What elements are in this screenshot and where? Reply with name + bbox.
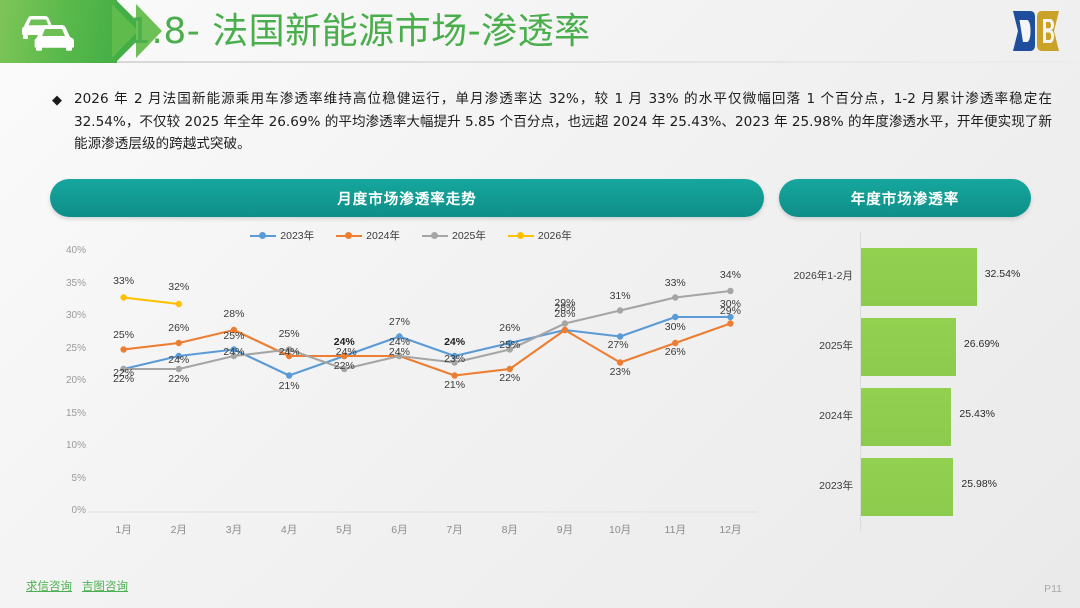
x-tick-label: 2月 bbox=[156, 522, 202, 537]
data-point-marker bbox=[176, 366, 182, 372]
data-label: 23% bbox=[600, 366, 640, 378]
data-label: 24% bbox=[379, 346, 419, 358]
data-point-marker bbox=[562, 320, 568, 326]
y-tick-label: 25% bbox=[50, 343, 86, 354]
footer-link[interactable]: 吉图咨询 bbox=[82, 578, 128, 594]
bar-value-label: 26.69% bbox=[964, 338, 1000, 350]
x-tick-label: 7月 bbox=[432, 522, 478, 537]
header-green-band bbox=[0, 0, 117, 63]
data-label: 24% bbox=[269, 346, 309, 358]
legend-label: 2025年 bbox=[452, 228, 486, 243]
legend-label: 2023年 bbox=[280, 228, 314, 243]
data-label: 33% bbox=[655, 277, 695, 289]
left-panel-title: 月度市场渗透率走势 bbox=[50, 179, 764, 217]
data-label: 30% bbox=[655, 321, 695, 333]
data-label: 24% bbox=[326, 346, 366, 358]
bar-row: 2025年26.69% bbox=[779, 318, 1037, 376]
data-label: 22% bbox=[490, 372, 530, 384]
data-point-marker bbox=[727, 320, 733, 326]
bar-fill[interactable] bbox=[861, 458, 953, 516]
header-divider bbox=[117, 61, 1080, 63]
x-tick-label: 1月 bbox=[101, 522, 147, 537]
data-label: 34% bbox=[710, 269, 750, 281]
data-point-marker bbox=[727, 288, 733, 294]
y-tick-label: 30% bbox=[50, 310, 86, 321]
annual-penetration-bar-chart: 2026年1-2月32.54%2025年26.69%2024年25.43%202… bbox=[779, 240, 1037, 550]
monthly-penetration-line-chart: 2023年2024年2025年2026年 0%5%10%15%20%25%30%… bbox=[50, 222, 772, 557]
bar-category-label: 2025年 bbox=[779, 338, 853, 353]
x-tick-label: 3月 bbox=[211, 522, 257, 537]
data-point-marker bbox=[176, 301, 182, 307]
data-label: 25% bbox=[104, 329, 144, 341]
data-point-marker bbox=[176, 340, 182, 346]
data-point-marker bbox=[120, 294, 126, 300]
bar-category-label: 2026年1-2月 bbox=[779, 268, 853, 283]
data-label: 27% bbox=[598, 339, 638, 351]
legend-label: 2024年 bbox=[366, 228, 400, 243]
x-tick-label: 9月 bbox=[542, 522, 588, 537]
x-tick-label: 6月 bbox=[376, 522, 422, 537]
data-label: 24% bbox=[435, 336, 475, 348]
bar-fill[interactable] bbox=[861, 248, 977, 306]
y-tick-label: 20% bbox=[50, 375, 86, 386]
data-label: 21% bbox=[269, 380, 309, 392]
chart-legend: 2023年2024年2025年2026年 bbox=[50, 228, 772, 243]
legend-swatch-icon bbox=[250, 231, 276, 241]
page-number: P11 bbox=[1044, 583, 1062, 595]
data-label: 24% bbox=[159, 354, 199, 366]
footer-links: 求信咨询吉图咨询 bbox=[26, 578, 128, 594]
bar-value-label: 25.43% bbox=[959, 408, 995, 420]
legend-label: 2026年 bbox=[538, 228, 572, 243]
company-logo-icon bbox=[1010, 8, 1062, 54]
data-point-marker bbox=[672, 294, 678, 300]
bar-fill[interactable] bbox=[861, 318, 956, 376]
bar-row: 2023年25.98% bbox=[779, 458, 1037, 516]
data-label: 31% bbox=[600, 290, 640, 302]
data-label: 22% bbox=[324, 360, 364, 372]
legend-swatch-icon bbox=[508, 231, 534, 241]
y-tick-label: 40% bbox=[50, 245, 86, 256]
data-point-marker bbox=[286, 372, 292, 378]
bar-category-label: 2024年 bbox=[779, 408, 853, 423]
data-label: 26% bbox=[490, 322, 530, 334]
bar-value-label: 32.54% bbox=[985, 268, 1021, 280]
data-label: 21% bbox=[435, 379, 475, 391]
data-label: 29% bbox=[710, 305, 750, 317]
right-panel-title: 年度市场渗透率 bbox=[779, 179, 1031, 217]
x-tick-label: 5月 bbox=[321, 522, 367, 537]
x-tick-label: 8月 bbox=[487, 522, 533, 537]
data-label: 22% bbox=[104, 373, 144, 385]
bar-value-label: 25.98% bbox=[961, 478, 997, 490]
data-label: 22% bbox=[159, 373, 199, 385]
data-label: 33% bbox=[104, 275, 144, 287]
legend-item-2026年[interactable]: 2026年 bbox=[508, 228, 572, 243]
y-tick-label: 0% bbox=[50, 505, 86, 516]
bar-row: 2026年1-2月32.54% bbox=[779, 248, 1037, 306]
bar-fill[interactable] bbox=[861, 388, 951, 446]
data-label: 23% bbox=[435, 353, 475, 365]
data-label: 25% bbox=[490, 339, 530, 351]
summary-text: 2026 年 2 月法国新能源乘用车渗透率维持高位稳健运行，单月渗透率达 32%… bbox=[74, 88, 1052, 156]
data-point-marker bbox=[672, 314, 678, 320]
bar-category-label: 2023年 bbox=[779, 478, 853, 493]
footer-link[interactable]: 求信咨询 bbox=[26, 578, 72, 594]
y-tick-label: 5% bbox=[50, 473, 86, 484]
legend-item-2024年[interactable]: 2024年 bbox=[336, 228, 400, 243]
legend-item-2025年[interactable]: 2025年 bbox=[422, 228, 486, 243]
bullet-marker: ◆ bbox=[52, 88, 62, 156]
summary-block: ◆ 2026 年 2 月法国新能源乘用车渗透率维持高位稳健运行，单月渗透率达 3… bbox=[52, 88, 1052, 156]
data-point-marker bbox=[120, 346, 126, 352]
data-label: 24% bbox=[214, 346, 254, 358]
data-label: 26% bbox=[655, 346, 695, 358]
data-label: 26% bbox=[159, 322, 199, 334]
bar-row: 2024年25.43% bbox=[779, 388, 1037, 446]
x-tick-label: 4月 bbox=[266, 522, 312, 537]
x-tick-label: 10月 bbox=[597, 522, 643, 537]
car-icon bbox=[18, 13, 80, 51]
y-tick-label: 10% bbox=[50, 440, 86, 451]
data-point-marker bbox=[562, 327, 568, 333]
page-title: 1.8- 法国新能源市场-渗透率 bbox=[128, 4, 591, 60]
data-label: 25% bbox=[214, 330, 254, 342]
legend-swatch-icon bbox=[422, 231, 448, 241]
data-label: 27% bbox=[379, 316, 419, 328]
legend-item-2023年[interactable]: 2023年 bbox=[250, 228, 314, 243]
data-label: 25% bbox=[269, 328, 309, 340]
line-series-2026年 bbox=[124, 298, 179, 305]
data-label: 32% bbox=[159, 281, 199, 293]
x-tick-label: 12月 bbox=[707, 522, 753, 537]
data-label: 29% bbox=[545, 297, 585, 309]
data-label: 28% bbox=[214, 308, 254, 320]
y-tick-label: 15% bbox=[50, 408, 86, 419]
y-tick-label: 35% bbox=[50, 278, 86, 289]
page-header: 1.8- 法国新能源市场-渗透率 bbox=[0, 0, 1080, 63]
data-point-marker bbox=[617, 307, 623, 313]
legend-swatch-icon bbox=[336, 231, 362, 241]
x-tick-label: 11月 bbox=[652, 522, 698, 537]
